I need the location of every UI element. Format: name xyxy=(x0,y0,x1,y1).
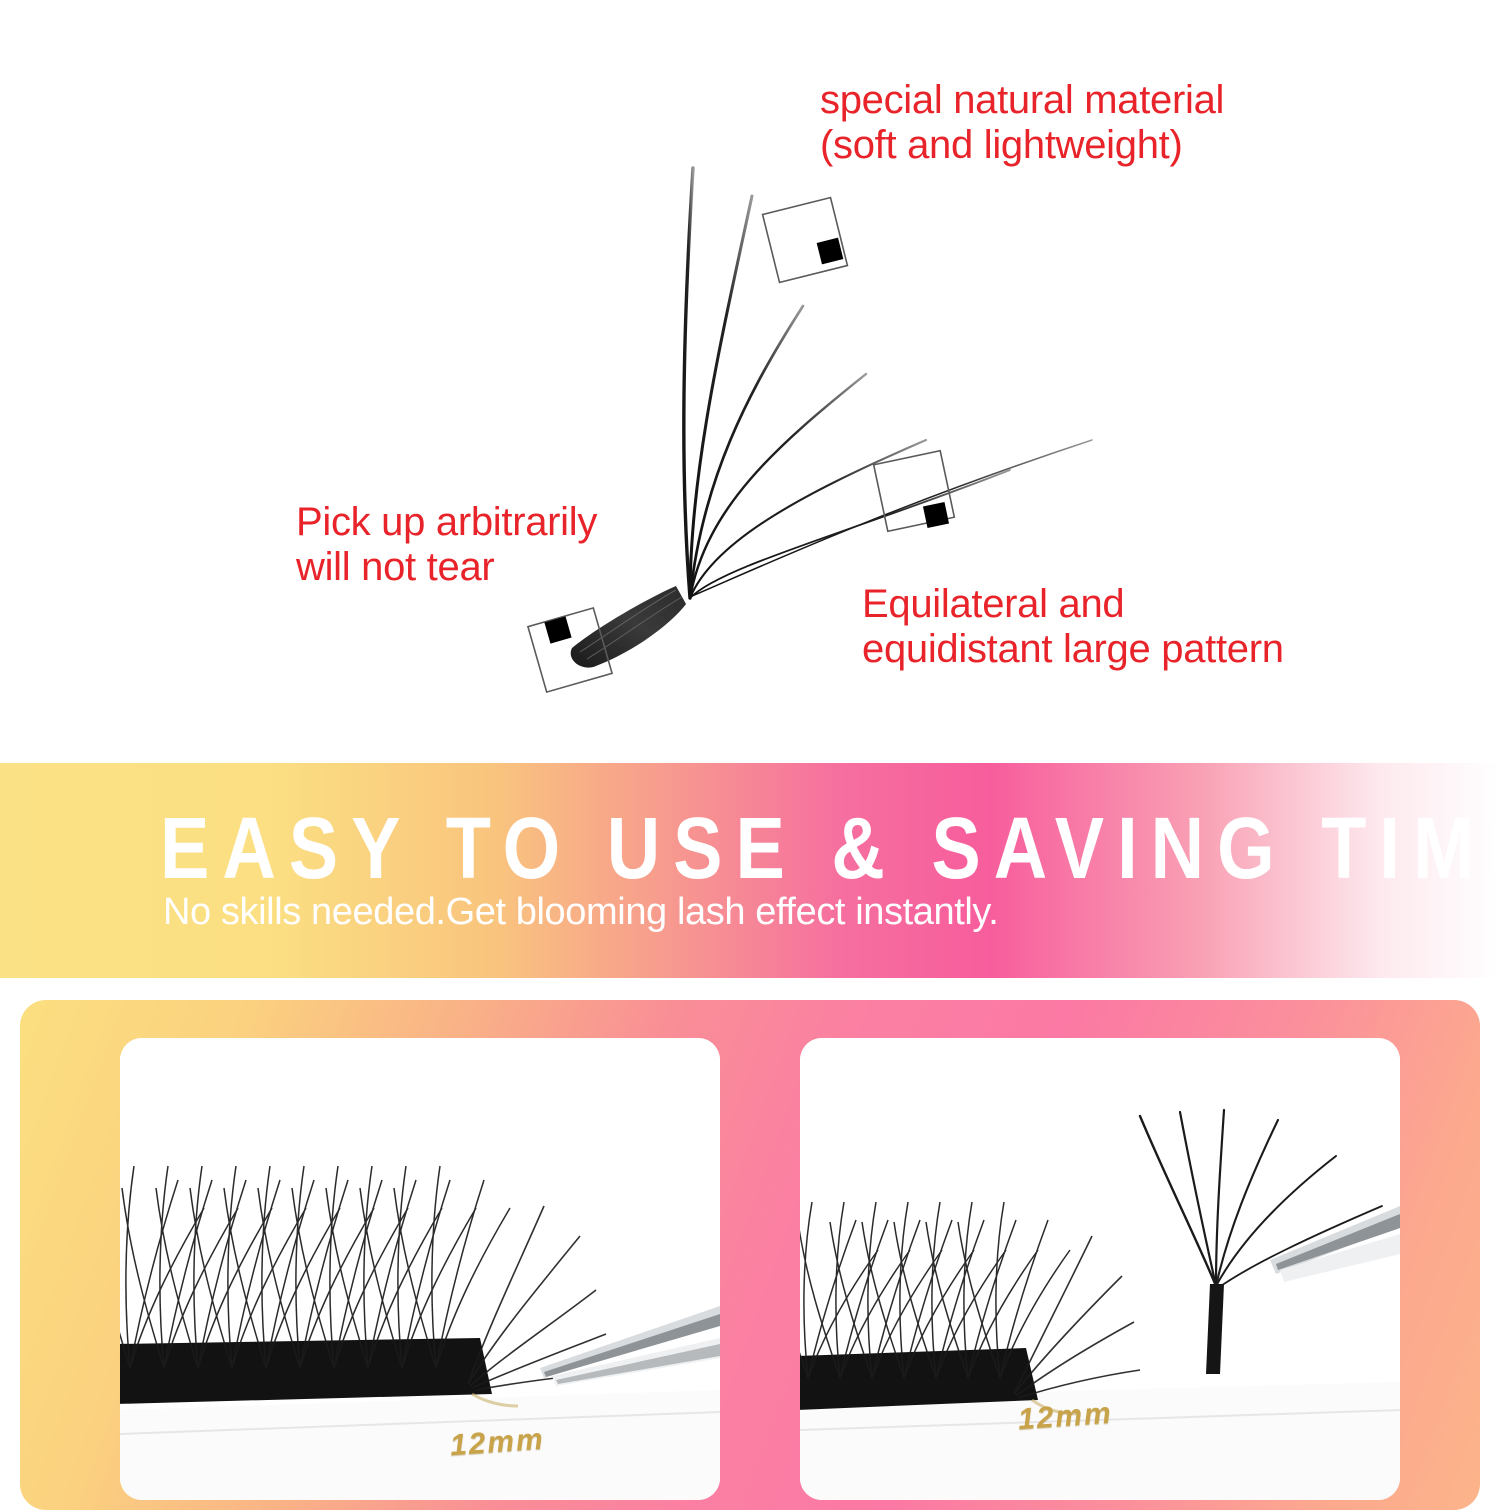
banner-subtitle: No skills needed.Get blooming lash effec… xyxy=(163,893,998,931)
callout-special-material: special natural material (soft and light… xyxy=(820,78,1224,168)
banner-title: EASY TO USE & SAVING TIME xyxy=(160,805,1500,892)
photo-card-lash-tray: 12mm xyxy=(120,1038,720,1500)
callout-pick-up-arbitrarily: Pick up arbitrarily will not tear xyxy=(296,500,597,590)
lash-tray-photo xyxy=(120,1038,720,1500)
annotation-marker-top xyxy=(763,198,848,283)
annotation-marker-middle xyxy=(874,451,955,532)
lash-fibers xyxy=(684,168,1092,598)
size-label-left: 12mm xyxy=(449,1423,546,1464)
size-label-right: 12mm xyxy=(1017,1397,1114,1438)
hero-diagram-section: special natural material (soft and light… xyxy=(0,0,1500,763)
callout-equilateral-pattern: Equilateral and equidistant large patter… xyxy=(862,582,1284,672)
photo-gallery-panel: 12mm xyxy=(20,1000,1480,1510)
lash-base-tip xyxy=(571,586,686,668)
feature-banner: EASY TO USE & SAVING TIME No skills need… xyxy=(0,763,1500,978)
photo-card-fan-pickup: 12mm xyxy=(800,1038,1400,1500)
